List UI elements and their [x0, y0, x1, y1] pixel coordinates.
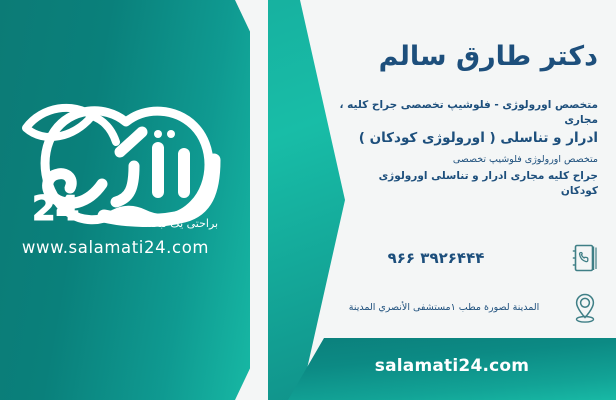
specialty-line-2: ادرار و تناسلی ( اورولوژی کودکان ) — [322, 129, 598, 149]
phone-number[interactable]: ۳۹۲۶۴۴۴ ۹۶۶ — [320, 249, 568, 267]
card-content: دکتر طارق سالم متخصص اورولوژی - فلوشیپ ت… — [312, 0, 616, 338]
phone-book-icon — [568, 240, 602, 276]
svg-text:24: 24 — [32, 189, 79, 229]
specialty-line-3: متخصص اورولوژی فلوشیپ تخصصی — [322, 153, 598, 167]
doctor-name: دکتر طارق سالم — [328, 40, 598, 74]
specialty-line-5: کودکان — [322, 184, 598, 199]
specialty-line-4: جراح کلیه مجاری ادرار و تناسلی اورولوژی — [322, 169, 598, 184]
business-card: 24 براحتی یک لبخند www.salamati24.com دک… — [0, 0, 616, 400]
footer-website[interactable]: salamati24.com — [288, 356, 616, 376]
footer-bar: salamati24.com — [288, 338, 616, 400]
salamati24-logo: 24 براحتی یک لبخند www.salamati24.com — [8, 88, 253, 283]
logo-24-badge: 24 — [30, 189, 86, 229]
contact-block: ۳۹۲۶۴۴۴ ۹۶۶ المدينة لصورة مطب ١مستشفى ال… — [320, 240, 602, 340]
logo-url: www.salamati24.com — [8, 238, 223, 257]
doctor-specialty: متخصص اورولوژی - فلوشیپ تخصصی جراح کلیه … — [322, 98, 598, 199]
contact-row-address: المدينة لصورة مطب ١مستشفى الأنصري المدين… — [320, 290, 602, 326]
logo-tagline: براحتی یک لبخند — [126, 217, 236, 230]
logo-apple-mark: 24 — [8, 88, 253, 238]
clinic-address: المدينة لصورة مطب ١مستشفى الأنصري المدين… — [320, 301, 568, 314]
map-pin-icon — [568, 290, 602, 326]
contact-row-phone: ۳۹۲۶۴۴۴ ۹۶۶ — [320, 240, 602, 276]
specialty-line-1: متخصص اورولوژی - فلوشیپ تخصصی جراح کلیه … — [322, 98, 598, 128]
